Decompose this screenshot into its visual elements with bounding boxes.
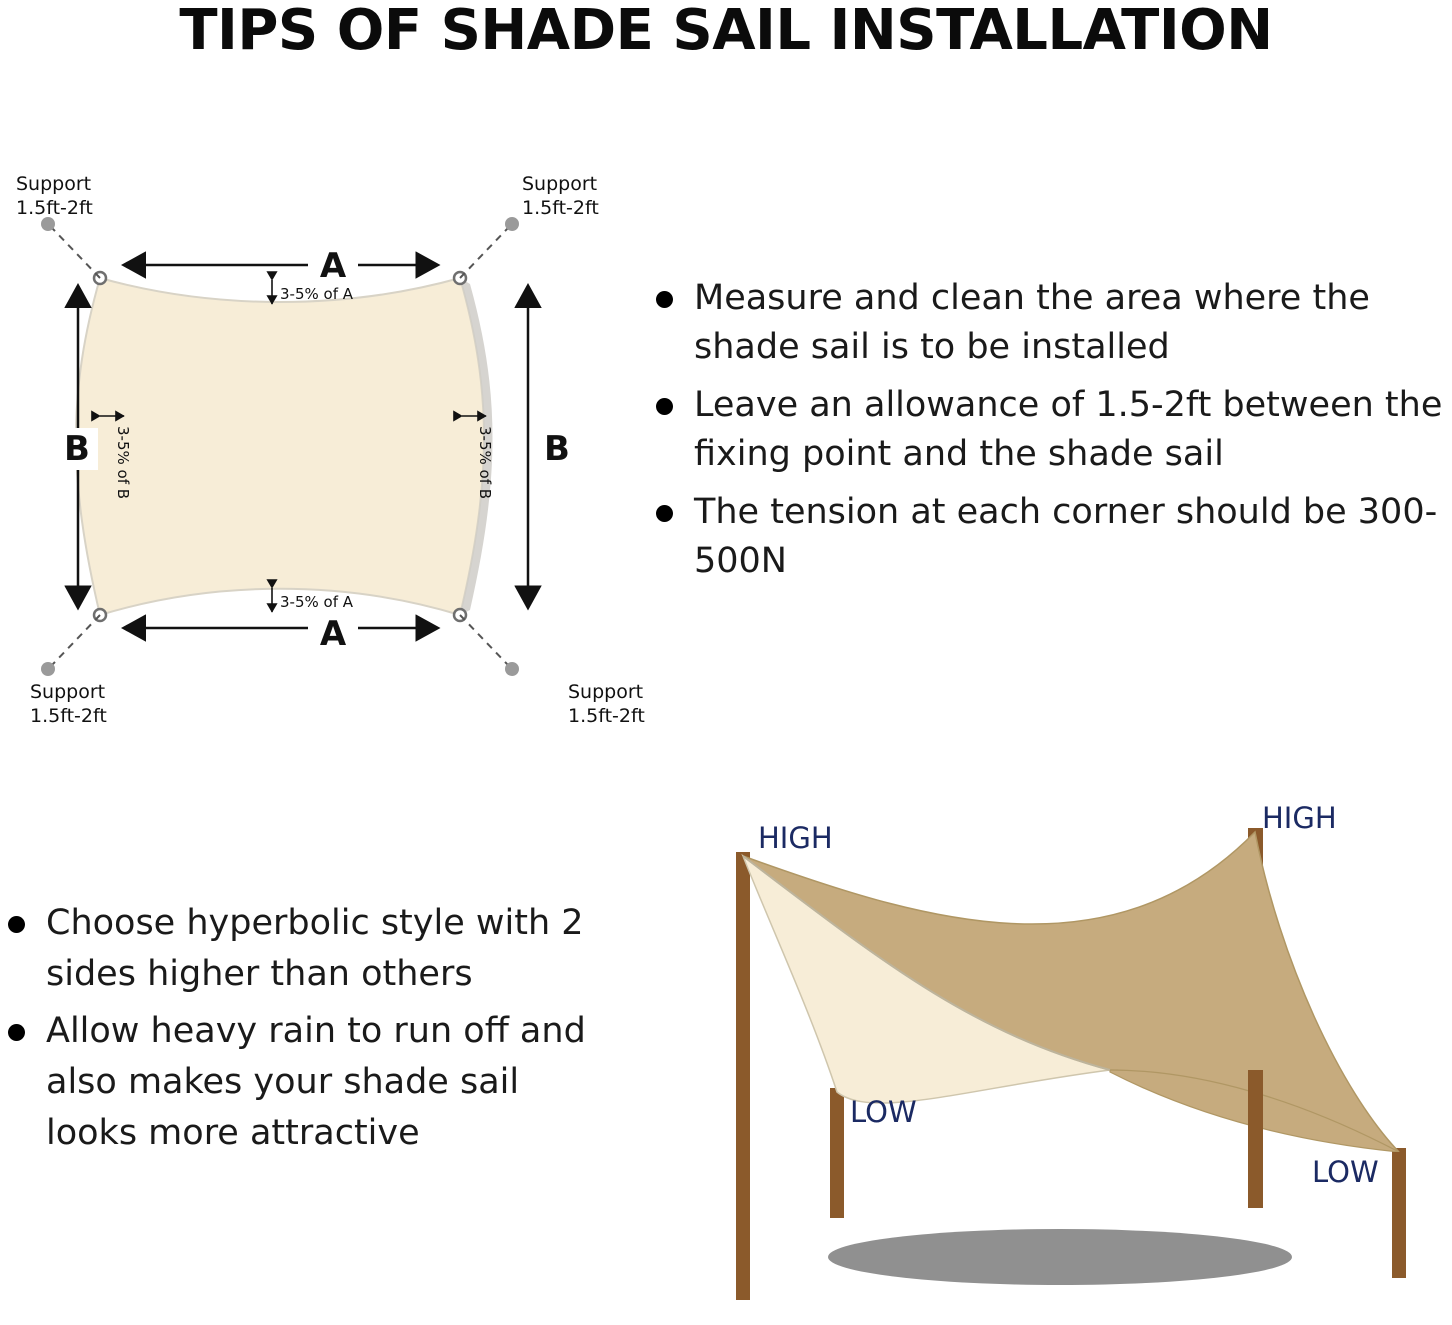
curve-depth-label-bottom: 3-5% of A: [280, 593, 354, 611]
dimension-label-top-a: A: [320, 246, 347, 286]
support-label-bottom-right-line1: Support: [568, 681, 643, 703]
support-label-bottom-left-line1: Support: [30, 681, 105, 703]
bullet-dot-icon: [656, 505, 673, 522]
support-label-top-right-line2: 1.5ft-2ft: [522, 197, 599, 219]
list-item-text: Choose hyperbolic style with 2 sides hig…: [46, 903, 584, 994]
dimension-label-left-b: B: [64, 429, 90, 469]
list-item: Measure and clean the area where the sha…: [648, 274, 1452, 372]
list-item: Allow heavy rain to run off and also mak…: [0, 1006, 620, 1159]
support-line-bottom-left: [52, 615, 100, 665]
label-high-right: HIGH: [1262, 801, 1337, 835]
bullet-dot-icon: [656, 398, 673, 415]
curve-depth-label-left: 3-5% of B: [114, 426, 132, 499]
support-dot-top-left: [41, 217, 55, 231]
support-dot-top-right: [505, 217, 519, 231]
infographic-page: TIPS OF SHADE SAIL INSTALLATION: [0, 0, 1452, 1325]
label-high-left: HIGH: [758, 821, 833, 855]
list-item-text: Leave an allowance of 1.5-2ft between th…: [694, 385, 1442, 474]
ground-shadow: [828, 1229, 1292, 1285]
list-item-text: Measure and clean the area where the sha…: [694, 278, 1370, 367]
hyperbolic-sail-diagram: HIGH HIGH LOW LOW: [640, 770, 1452, 1325]
list-item: Leave an allowance of 1.5-2ft between th…: [648, 381, 1452, 479]
list-item: Choose hyperbolic style with 2 sides hig…: [0, 898, 620, 1000]
support-line-bottom-right: [460, 615, 508, 665]
curve-depth-label-right: 3-5% of B: [476, 426, 494, 499]
pole-low-left-front: [830, 1100, 844, 1218]
list-item-text: Allow heavy rain to run off and also mak…: [46, 1011, 586, 1153]
label-low-left: LOW: [850, 1095, 917, 1129]
bullet-dot-icon: [8, 1024, 25, 1041]
support-label-bottom-left-line2: 1.5ft-2ft: [30, 705, 107, 727]
pole-high-left-front: [736, 1070, 750, 1300]
curve-depth-label-top: 3-5% of A: [280, 285, 354, 303]
rect-sail-diagram: A A B B 3-5% of A 3-5% of A 3-5% of B: [0, 160, 660, 740]
support-dot-bottom-left: [41, 662, 55, 676]
installation-tips-list: Measure and clean the area where the sha…: [648, 274, 1452, 595]
pole-low-right-front: [1392, 1152, 1406, 1278]
list-item-text: The tension at each corner should be 300…: [694, 492, 1437, 581]
pole-high-right-front: [1248, 1070, 1263, 1208]
support-label-bottom-right-line2: 1.5ft-2ft: [568, 705, 645, 727]
support-label-top-left-line1: Support: [16, 173, 91, 195]
style-tips-list: Choose hyperbolic style with 2 sides hig…: [0, 898, 620, 1165]
page-title: TIPS OF SHADE SAIL INSTALLATION: [0, 0, 1452, 66]
dimension-label-right-b: B: [544, 429, 570, 469]
support-label-top-left-line2: 1.5ft-2ft: [16, 197, 93, 219]
label-low-right: LOW: [1312, 1155, 1379, 1189]
support-dot-bottom-right: [505, 662, 519, 676]
support-line-top-right: [460, 228, 508, 278]
sail-shape: [76, 278, 484, 615]
bullet-dot-icon: [8, 916, 25, 933]
bullet-dot-icon: [656, 291, 673, 308]
dimension-label-bottom-a: A: [320, 614, 347, 654]
list-item: The tension at each corner should be 300…: [648, 488, 1452, 586]
support-line-top-left: [52, 228, 100, 278]
support-label-top-right-line1: Support: [522, 173, 597, 195]
